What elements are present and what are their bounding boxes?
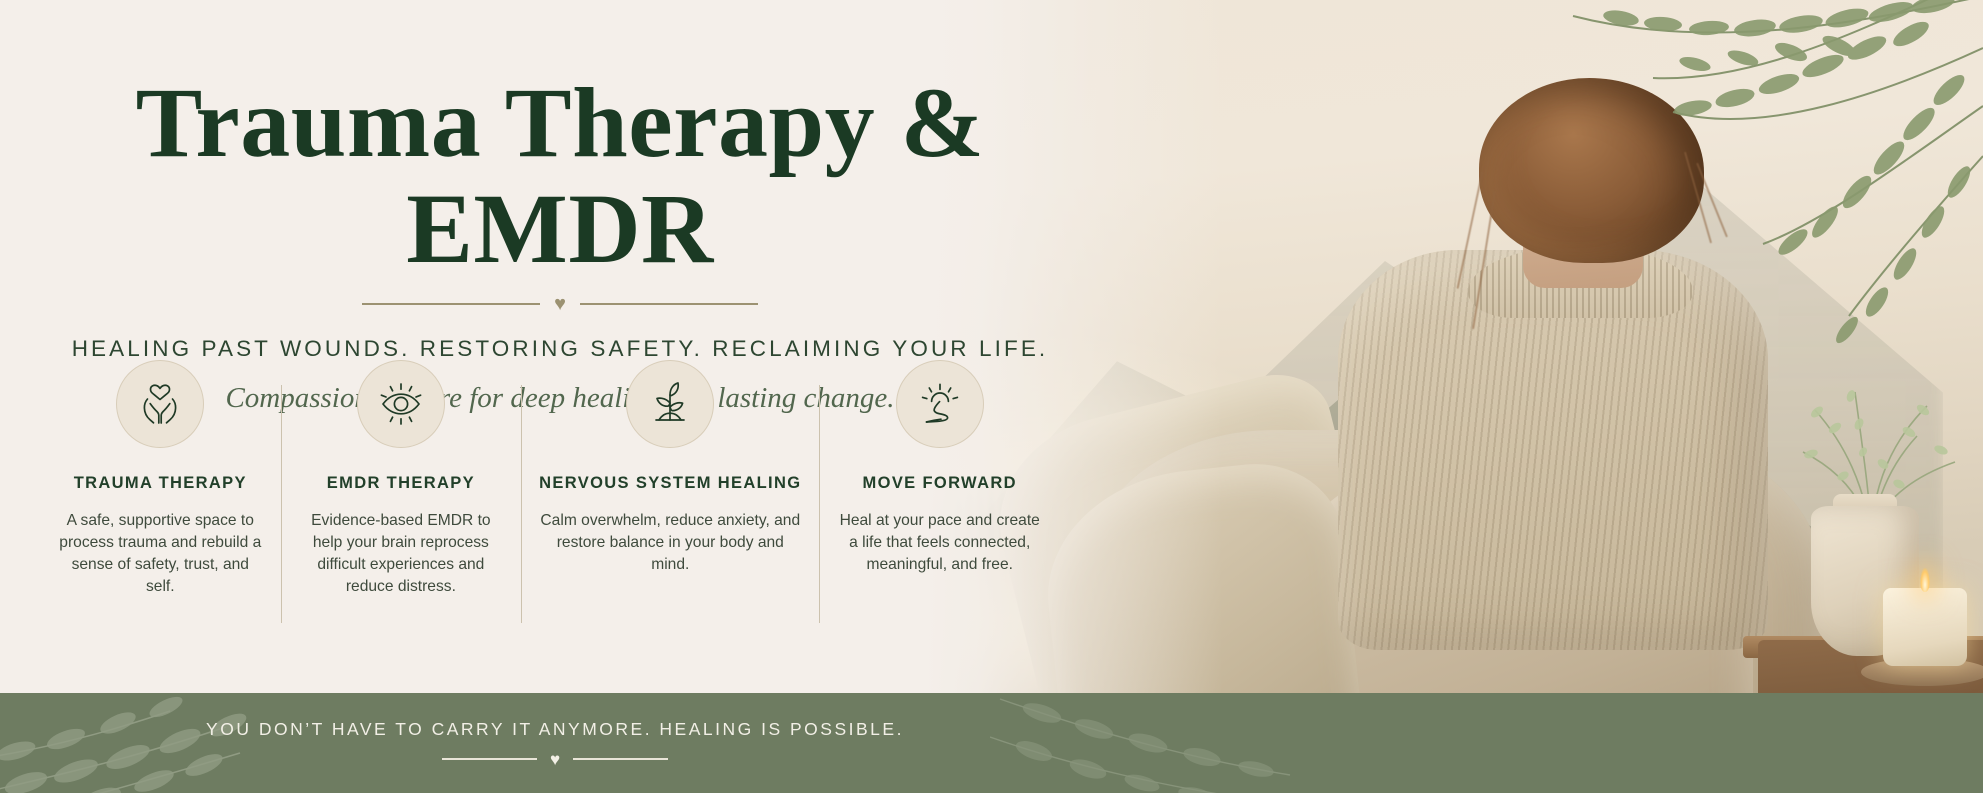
feature-text: A safe, supportive space to process trau… (58, 510, 263, 599)
sprout-icon (626, 360, 714, 448)
hero-banner: Trauma Therapy & EMDR ♥ HEALING PAST WOU… (0, 0, 1983, 793)
lit-candle (1883, 588, 1967, 666)
footer-content: YOU DON’T HAVE TO CARRY IT ANYMORE. HEAL… (0, 693, 1110, 793)
feature-title: NERVOUS SYSTEM HEALING (539, 474, 801, 493)
divider-rule-left (362, 303, 540, 305)
hero-content: Trauma Therapy & EMDR ♥ HEALING PAST WOU… (0, 0, 1100, 693)
feature-emdr-therapy: EMDR THERAPY Evidence-based EMDR to help… (281, 360, 522, 599)
feature-title: EMDR THERAPY (299, 474, 504, 493)
candle-flame (1920, 568, 1930, 592)
sunrise-path-icon (896, 360, 984, 448)
feature-columns: TRAUMA THERAPY A safe, supportive space … (40, 360, 1060, 599)
footer-divider-rule-left (442, 758, 537, 760)
heart-icon: ♥ (554, 294, 566, 314)
divider-rule-right (580, 303, 758, 305)
footer-divider-rule-right (573, 758, 668, 760)
footer-heart-divider: ♥ (442, 751, 668, 768)
hero-eyebrow: HEALING PAST WOUNDS. RESTORING SAFETY. R… (0, 336, 1100, 362)
radiant-eye-icon (357, 360, 445, 448)
feature-text: Heal at your pace and create a life that… (837, 510, 1042, 576)
feature-text: Calm overwhelm, reduce anxiety, and rest… (539, 510, 801, 576)
olive-branch-overlay (1243, 0, 1983, 356)
feature-text: Evidence-based EMDR to help your brain r… (299, 510, 504, 599)
page-title: Trauma Therapy & EMDR (0, 70, 1100, 282)
feature-title: MOVE FORWARD (837, 474, 1042, 493)
heart-in-hands-icon (116, 360, 204, 448)
feature-trauma-therapy: TRAUMA THERAPY A safe, supportive space … (40, 360, 281, 599)
heart-divider: ♥ (20, 294, 1100, 314)
feature-move-forward: MOVE FORWARD Heal at your pace and creat… (819, 360, 1060, 576)
footer-band: YOU DON’T HAVE TO CARRY IT ANYMORE. HEAL… (0, 693, 1983, 793)
feature-title: TRAUMA THERAPY (58, 474, 263, 493)
footer-message: YOU DON’T HAVE TO CARRY IT ANYMORE. HEAL… (206, 719, 904, 740)
footer-heart-icon: ♥ (550, 751, 560, 768)
feature-nervous-system-healing: NERVOUS SYSTEM HEALING Calm overwhelm, r… (521, 360, 819, 576)
